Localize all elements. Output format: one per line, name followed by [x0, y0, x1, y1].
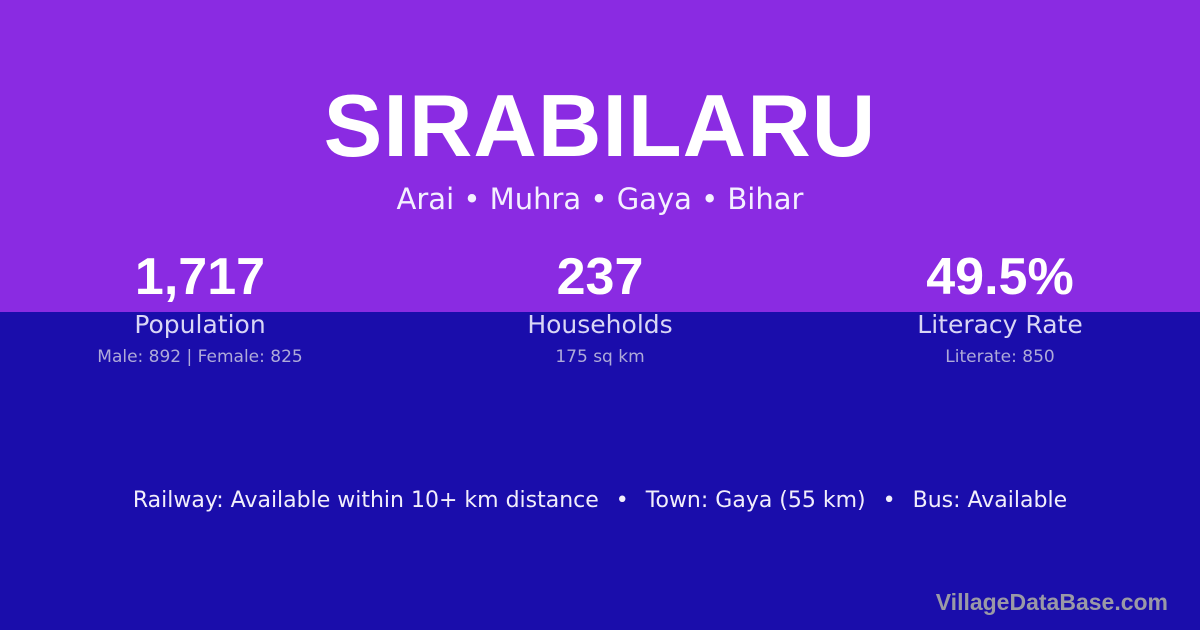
stat-value: 1,717 [0, 248, 400, 306]
stat-value: 49.5% [800, 248, 1200, 306]
town-info: Town: Gaya (55 km) [646, 488, 866, 513]
bus-info: Bus: Available [913, 488, 1067, 513]
stat-sub: 175 sq km [400, 347, 800, 368]
breadcrumb: Arai • Muhra • Gaya • Bihar [0, 182, 1200, 216]
stat-literacy-rate: 49.5% Literacy Rate Literate: 850 [800, 248, 1200, 368]
railway-info: Railway: Available within 10+ km distanc… [133, 488, 599, 513]
bullet-separator: • [606, 487, 639, 515]
bullet-separator: • [873, 487, 906, 515]
stat-label: Households [400, 310, 800, 340]
page-title: SIRABILARU [0, 82, 1200, 170]
stat-sub: Male: 892 | Female: 825 [0, 347, 400, 368]
stats-row: 1,717 Population Male: 892 | Female: 825… [0, 248, 1200, 368]
site-branding: VillageDataBase.com [936, 588, 1168, 616]
stat-value: 237 [400, 248, 800, 306]
stat-sub: Literate: 850 [800, 347, 1200, 368]
stat-households: 237 Households 175 sq km [400, 248, 800, 368]
stat-population: 1,717 Population Male: 892 | Female: 825 [0, 248, 400, 368]
village-info-card: SIRABILARU Arai • Muhra • Gaya • Bihar 1… [0, 0, 1200, 630]
stat-label: Population [0, 310, 400, 340]
stat-label: Literacy Rate [800, 310, 1200, 340]
amenities-line: Railway: Available within 10+ km distanc… [0, 487, 1200, 515]
